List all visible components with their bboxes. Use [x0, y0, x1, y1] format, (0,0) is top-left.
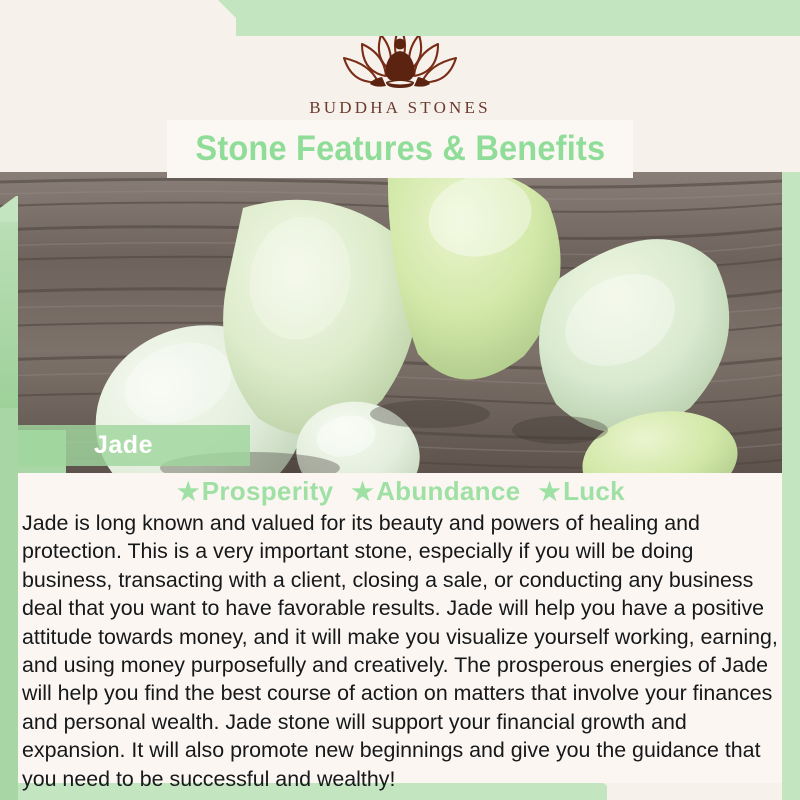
content-panel: ★Prosperity★Abundance★Luck Jade is long …	[18, 473, 782, 783]
keyword-list: ★Prosperity★Abundance★Luck	[18, 476, 782, 507]
star-icon: ★	[351, 478, 374, 506]
stone-name-label: Jade	[94, 431, 153, 460]
page-title: Stone Features & Benefits	[195, 129, 605, 169]
keyword-prosperity: Prosperity	[202, 476, 334, 506]
page-title-plaque: Stone Features & Benefits	[167, 120, 633, 178]
keyword-luck: Luck	[563, 476, 625, 506]
keyword-abundance: Abundance	[376, 476, 520, 506]
brand-logo: BUDDHA STONES	[0, 22, 800, 118]
stone-name-badge: Jade	[18, 425, 250, 466]
star-icon: ★	[538, 478, 561, 506]
frame-left-band-gradient	[0, 208, 18, 408]
description-text: Jade is long known and valued for its be…	[22, 509, 778, 793]
infographic-card: BUDDHA STONES Stone Features & Benefits …	[0, 0, 800, 800]
brand-name: BUDDHA STONES	[0, 98, 800, 118]
star-icon: ★	[177, 478, 200, 506]
